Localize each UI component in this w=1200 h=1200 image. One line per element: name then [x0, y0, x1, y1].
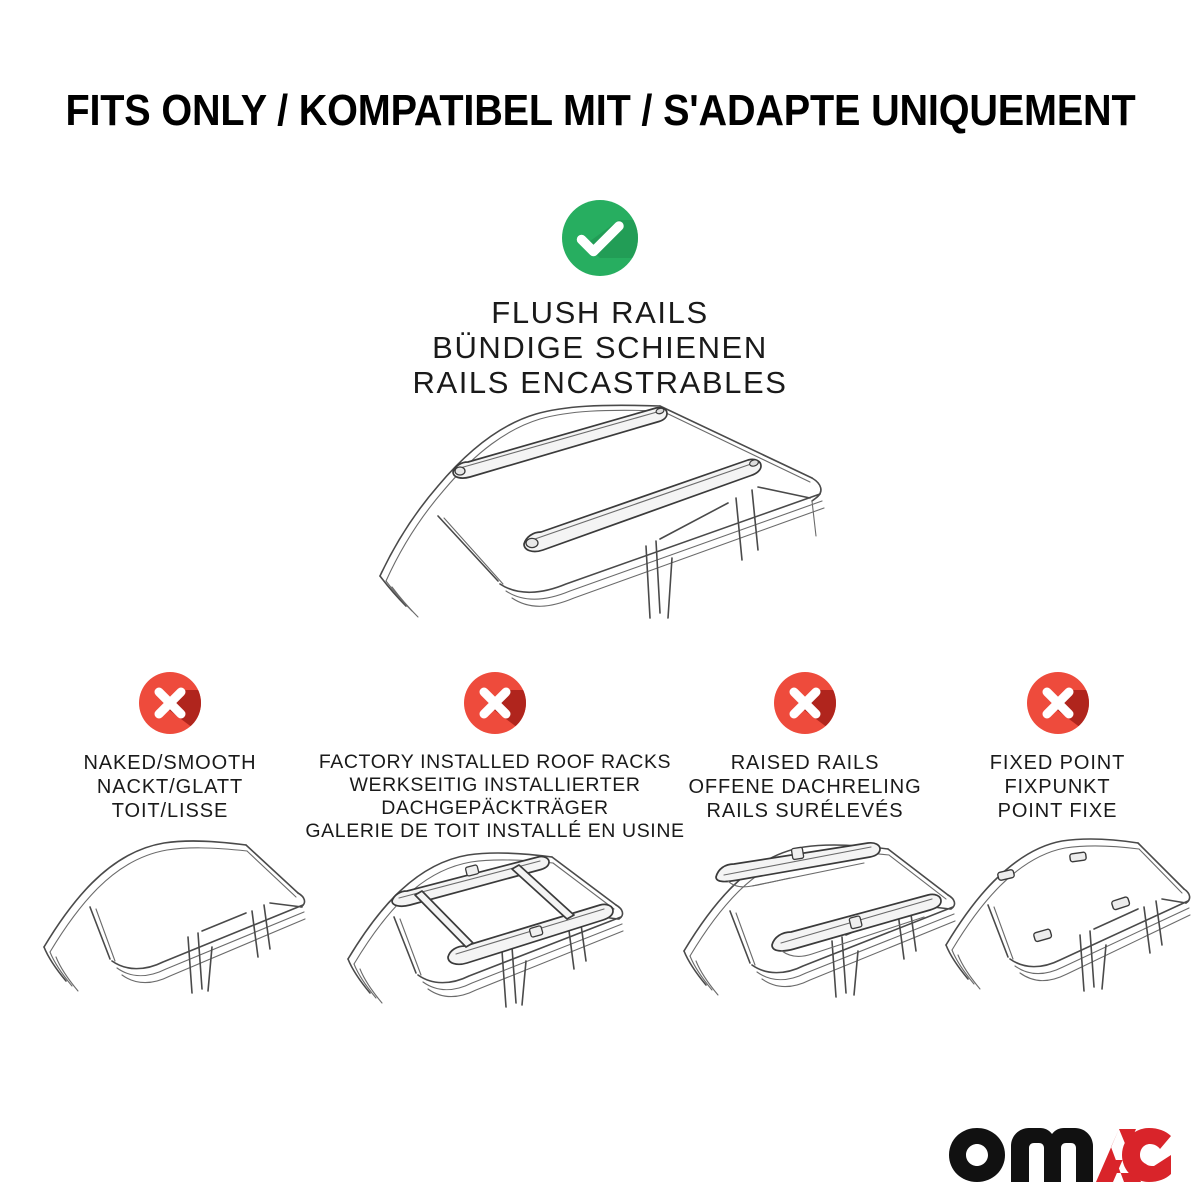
car-roof-fixed-point-illustration	[940, 835, 1190, 1010]
rejected-item-factory-roof-racks: FACTORY INSTALLED ROOF RACKS WERKSEITIG …	[300, 672, 690, 1024]
raised-rails-roof-drawing	[672, 835, 972, 1010]
x-circle-icon	[139, 672, 201, 734]
title-bar: FITS ONLY / KOMPATIBEL MIT / S'ADAPTE UN…	[0, 86, 1200, 136]
approved-section: FLUSH RAILS BÜNDIGE SCHIENEN RAILS ENCAS…	[0, 200, 1200, 400]
rejected-label-en: FIXED POINT	[940, 751, 1175, 775]
car-roof-with-flush-rails-illustration	[360, 398, 840, 633]
rejected-label-de: FIXPUNKT	[940, 775, 1175, 799]
car-roof-naked-smooth-illustration	[30, 835, 310, 1010]
infographic-page: FITS ONLY / KOMPATIBEL MIT / S'ADAPTE UN…	[0, 0, 1200, 1200]
x-mark-glyph	[1027, 672, 1089, 734]
approved-label-de: BÜNDIGE SCHIENEN	[0, 330, 1200, 365]
rejected-label-fr: GALERIE DE TOIT INSTALLÉ EN USINE	[300, 820, 690, 843]
x-circle-icon	[464, 672, 526, 734]
flush-rails-roof-drawing	[360, 398, 840, 633]
rejected-columns: NAKED/SMOOTH NACKT/GLATT TOIT/LISSE	[0, 672, 1200, 1072]
check-mark-glyph	[562, 200, 638, 276]
rejected-item-fixed-point: FIXED POINT FIXPUNKT POINT FIXE	[940, 672, 1175, 1010]
rejected-label-de: NACKT/GLATT	[30, 775, 310, 799]
fixed-point-roof-drawing	[940, 835, 1190, 1010]
rejected-label-en: RAISED RAILS	[672, 751, 938, 775]
rejected-item-raised-rails: RAISED RAILS OFFENE DACHRELING RAILS SUR…	[672, 672, 938, 1010]
page-title: FITS ONLY / KOMPATIBEL MIT / S'ADAPTE UN…	[65, 86, 1135, 136]
rejected-item-naked-smooth: NAKED/SMOOTH NACKT/GLATT TOIT/LISSE	[30, 672, 310, 1010]
omac-logo-letter-m	[1011, 1128, 1093, 1182]
rejected-label-de-1: WERKSEITIG INSTALLIERTER	[300, 774, 690, 797]
omac-logo-mark	[948, 1126, 1172, 1184]
rejected-label-fr: TOIT/LISSE	[30, 799, 310, 823]
rejected-label-fr: POINT FIXE	[940, 799, 1175, 823]
rejected-label-fr: RAILS SURÉLEVÉS	[672, 799, 938, 823]
naked-roof-drawing	[30, 835, 310, 1010]
rejected-labels-fixed-point: FIXED POINT FIXPUNKT POINT FIXE	[940, 751, 1175, 823]
approved-label-fr: RAILS ENCASTRABLES	[0, 365, 1200, 400]
rejected-label-en: FACTORY INSTALLED ROOF RACKS	[300, 751, 690, 774]
car-roof-factory-installed-roof-racks-illustration	[326, 849, 656, 1024]
omac-logo	[948, 1124, 1172, 1186]
x-mark-glyph	[464, 672, 526, 734]
x-circle-icon	[1027, 672, 1089, 734]
rejected-labels-raised-rails: RAISED RAILS OFFENE DACHRELING RAILS SUR…	[672, 751, 938, 823]
car-roof-raised-rails-illustration	[672, 835, 972, 1010]
x-mark-glyph	[139, 672, 201, 734]
rejected-label-de-2: DACHGEPÄCKTRÄGER	[300, 797, 690, 820]
check-circle-icon	[562, 200, 638, 276]
rejected-label-de: OFFENE DACHRELING	[672, 775, 938, 799]
factory-racks-roof-drawing	[326, 849, 656, 1024]
approved-labels: FLUSH RAILS BÜNDIGE SCHIENEN RAILS ENCAS…	[0, 295, 1200, 400]
x-circle-icon	[774, 672, 836, 734]
omac-logo-letter-o	[949, 1128, 1005, 1182]
x-mark-glyph	[774, 672, 836, 734]
approved-label-en: FLUSH RAILS	[0, 295, 1200, 330]
rejected-labels-naked-smooth: NAKED/SMOOTH NACKT/GLATT TOIT/LISSE	[30, 751, 310, 823]
rejected-labels-factory-roof-racks: FACTORY INSTALLED ROOF RACKS WERKSEITIG …	[300, 751, 690, 843]
rejected-label-en: NAKED/SMOOTH	[30, 751, 310, 775]
